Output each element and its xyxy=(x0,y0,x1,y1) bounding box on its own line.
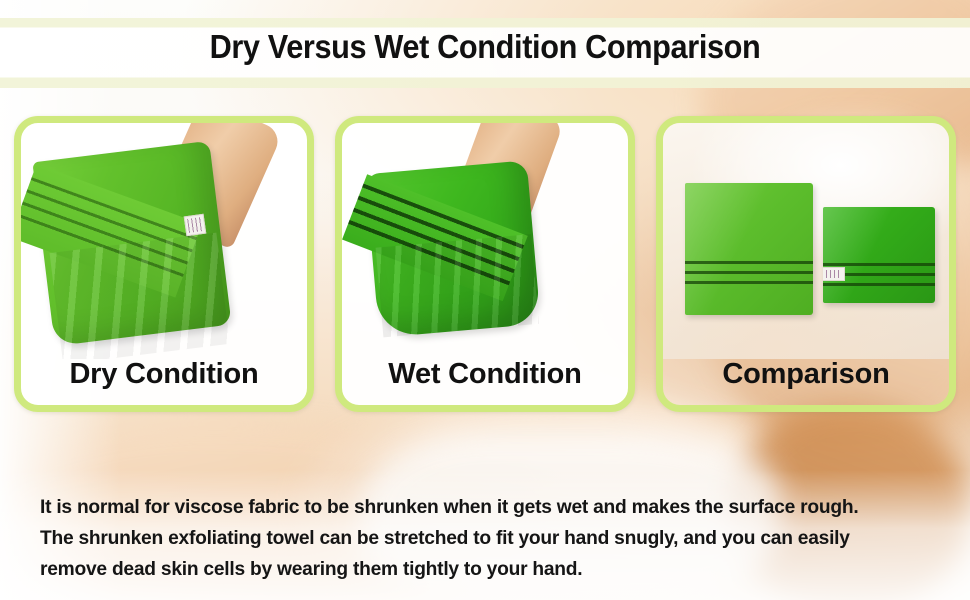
mitt-cuff-stripes xyxy=(685,261,813,289)
care-label-tag xyxy=(823,267,845,281)
card-comparison[interactable]: Comparison xyxy=(656,116,956,412)
wet-mitt-illustration xyxy=(342,123,628,359)
flat-mitt-wet xyxy=(823,207,935,303)
card-label-dry: Dry Condition xyxy=(21,358,307,391)
mitt-body-wet xyxy=(365,160,541,337)
infographic-root: Dry Versus Wet Condition Comparison Dry … xyxy=(0,0,970,600)
comparison-cards-row: Dry Condition Wet Condition xyxy=(14,116,956,412)
footer-line: The shrunken exfoliating towel can be st… xyxy=(40,523,923,554)
fabric-sheen xyxy=(685,183,813,315)
footer-description: It is normal for viscose fabric to be sh… xyxy=(40,492,923,585)
page-title: Dry Versus Wet Condition Comparison xyxy=(34,28,936,66)
dry-condition-photo xyxy=(21,123,307,359)
card-label-wet: Wet Condition xyxy=(342,358,628,391)
card-wet-condition[interactable]: Wet Condition xyxy=(335,116,635,412)
flat-mitt-dry xyxy=(685,183,813,315)
dry-mitt-illustration xyxy=(21,123,307,359)
care-label-tag xyxy=(184,214,207,237)
comparison-photo xyxy=(663,123,949,359)
mitt-fabric-folds xyxy=(50,233,230,359)
footer-line: It is normal for viscose fabric to be sh… xyxy=(40,492,923,523)
mitt-fabric-folds xyxy=(376,234,539,337)
card-label-comparison: Comparison xyxy=(663,358,949,391)
footer-line: remove dead skin cells by wearing them t… xyxy=(40,554,923,585)
card-dry-condition[interactable]: Dry Condition xyxy=(14,116,314,412)
wet-condition-photo xyxy=(342,123,628,359)
mitt-body-dry xyxy=(32,141,231,346)
